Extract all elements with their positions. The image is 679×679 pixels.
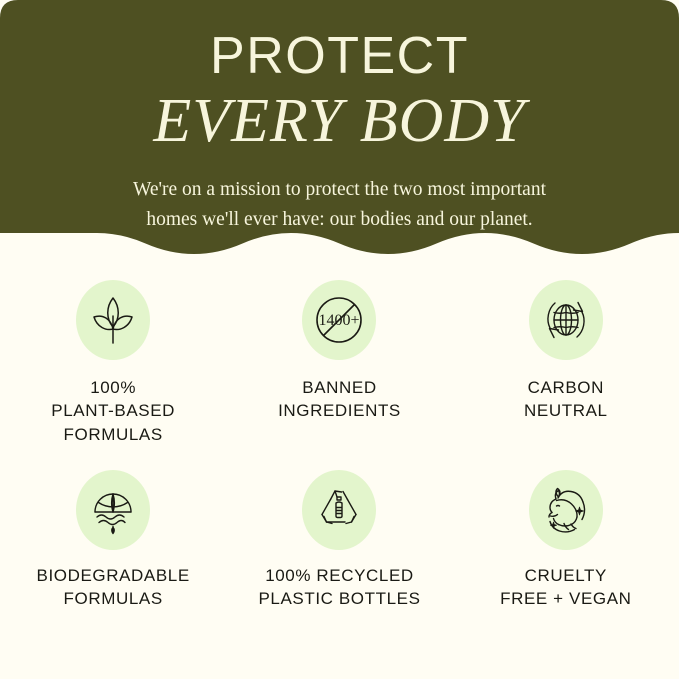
badge-plant-based-formulas: 100% PLANT-BASED FORMULAS (0, 280, 226, 446)
recycled-bottle-icon (310, 481, 368, 539)
tagline-line-2: homes we'll ever have: our bodies and ou… (133, 205, 546, 235)
hero-banner: PROTECT EVERY BODY We're on a mission to… (0, 0, 679, 262)
badge-label: 100% RECYCLED PLASTIC BOTTLES (258, 564, 420, 611)
badge-icon-circle (529, 280, 603, 360)
plant-leaves-icon (82, 289, 144, 351)
promo-graphic: PROTECT EVERY BODY We're on a mission to… (0, 0, 679, 679)
cruelty-free-rabbit-icon (536, 480, 596, 540)
badge-icon-circle (302, 470, 376, 550)
tagline-line-1: We're on a mission to protect the two mo… (133, 175, 546, 205)
badge-label: 100% PLANT-BASED FORMULAS (51, 376, 175, 446)
badge-label: CRUELTY FREE + VEGAN (500, 564, 631, 611)
badge-icon-circle (76, 280, 150, 360)
badge-carbon-neutral: CARBON NEUTRAL (453, 280, 679, 423)
carbon-neutral-globe-icon (536, 290, 596, 350)
badge-banned-ingredients: 1400+ BANNED INGREDIENTS (226, 280, 452, 423)
biodegradable-globe-water-icon (84, 481, 142, 539)
badge-label: BANNED INGREDIENTS (278, 376, 401, 423)
badge-row-1: 100% PLANT-BASED FORMULAS 1400+ BANNED I… (0, 280, 679, 470)
badge-biodegradable-formulas: BIODEGRADABLE FORMULAS (0, 470, 226, 611)
headline-secondary: EVERY BODY (153, 88, 525, 155)
hero-text-block: PROTECT EVERY BODY We're on a mission to… (0, 0, 679, 240)
badge-icon-circle: 1400+ (302, 280, 376, 360)
benefit-badge-grid: 100% PLANT-BASED FORMULAS 1400+ BANNED I… (0, 280, 679, 620)
headline-primary: PROTECT (210, 28, 469, 84)
banned-ingredients-icon: 1400+ (310, 291, 368, 349)
badge-icon-circle (76, 470, 150, 550)
badge-icon-circle (529, 470, 603, 550)
badge-cruelty-free-vegan: CRUELTY FREE + VEGAN (453, 470, 679, 611)
badge-row-2: BIODEGRADABLE FORMULAS (0, 470, 679, 620)
badge-label: BIODEGRADABLE FORMULAS (37, 564, 190, 611)
hero-tagline: We're on a mission to protect the two mo… (133, 175, 546, 234)
badge-recycled-plastic-bottles: 100% RECYCLED PLASTIC BOTTLES (226, 470, 452, 611)
badge-label: CARBON NEUTRAL (524, 376, 608, 423)
